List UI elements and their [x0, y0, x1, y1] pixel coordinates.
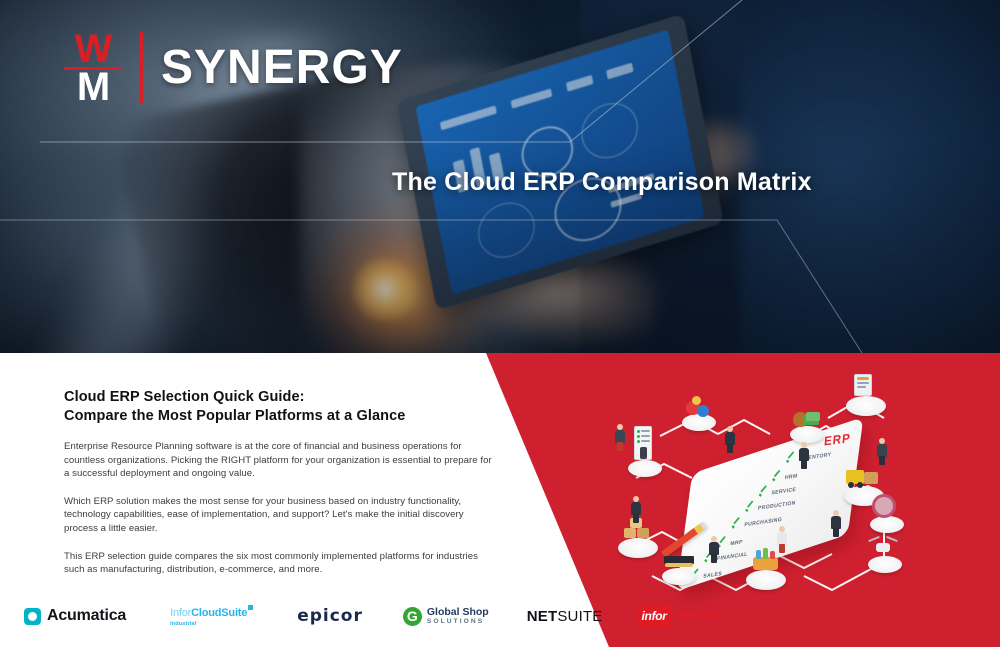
checklist-label: MRP	[730, 539, 743, 547]
check-icon	[771, 474, 781, 485]
vendor-name-part2: VISUAL	[678, 609, 723, 623]
checklist-label: HRM	[785, 473, 798, 481]
node-platform	[682, 414, 716, 431]
checklist-label: FINANCIAL	[717, 551, 748, 562]
check-icon	[730, 521, 740, 532]
section-heading: Cloud ERP Selection Quick Guide: Compare…	[64, 388, 494, 426]
node-platform	[846, 396, 886, 416]
vendor-name-part2: SUITE	[557, 608, 602, 625]
vendor-logo-acumatica[interactable]: Acumatica	[24, 607, 126, 625]
vendor-name-part1: NET	[527, 608, 558, 625]
logo-letter-m: M	[62, 70, 124, 104]
vendor-logo-netsuite[interactable]: NETSUITE	[527, 608, 603, 625]
check-icon	[785, 455, 795, 466]
vendor-name-part2: SOLUTIONS	[427, 618, 489, 626]
node-platform	[870, 516, 904, 533]
vendor-logo-row: Acumatica InforCloudSuite Industrial epi…	[0, 596, 620, 636]
check-icon	[757, 489, 767, 500]
person-with-pencil	[708, 536, 720, 562]
vendor-name-part2: CloudSuite	[191, 607, 247, 619]
node-platform	[628, 460, 662, 477]
vendor-logo-infor-cloudsuite[interactable]: InforCloudSuite Industrial	[170, 604, 253, 628]
logo-letter-w: W	[62, 32, 124, 66]
paragraph-2: Which ERP solution makes the most sense …	[64, 495, 494, 536]
node-platform	[868, 556, 902, 573]
vendor-name: Acumatica	[47, 607, 126, 625]
hero-title: The Cloud ERP Comparison Matrix	[392, 168, 812, 197]
paragraph-3: This ERP selection guide compares the si…	[64, 550, 494, 577]
check-icon	[744, 504, 754, 515]
node-platform	[746, 570, 786, 590]
checklist-label: SERVICE	[771, 486, 796, 496]
person-binoculars	[830, 510, 842, 536]
vendor-name-part1: infor	[642, 609, 667, 623]
erp-card-title: ERP	[824, 431, 852, 449]
person-woman-red	[776, 526, 788, 552]
node-platform	[618, 538, 658, 558]
vendor-name-part1: Global Shop	[427, 607, 489, 618]
person-ruler	[876, 438, 888, 464]
person-telescope	[614, 424, 626, 450]
infor-cloudsuite-logo-icon: InforCloudSuite Industrial	[170, 604, 253, 628]
person-pointing	[724, 426, 736, 452]
hero-banner: W M SYNERGY The Cloud ERP Comparison Mat…	[0, 0, 1000, 353]
company-logo[interactable]: W M SYNERGY	[62, 30, 403, 106]
node-platform	[790, 426, 824, 443]
vendor-name: epicor	[297, 606, 363, 626]
vendor-name-part1: Infor	[170, 607, 191, 619]
brand-wordmark: SYNERGY	[161, 44, 403, 92]
vendor-logo-global-shop[interactable]: Global Shop SOLUTIONS	[403, 607, 489, 626]
heading-line-1: Cloud ERP Selection Quick Guide:	[64, 389, 305, 405]
infor-visual-logo-icon: infor	[637, 605, 672, 628]
vendor-name-block: Global Shop SOLUTIONS	[427, 607, 489, 626]
vendor-subtitle: Industrial	[170, 622, 253, 628]
person-tablet	[798, 442, 810, 468]
wm-monogram-icon: W M	[62, 30, 124, 106]
global-shop-logo-icon	[403, 607, 422, 626]
infor-square-icon	[248, 605, 253, 610]
erp-isometric-illustration: ERP INVENTORY HRM SERVICE PRODUCTION	[600, 390, 920, 620]
node-platform	[662, 568, 696, 585]
heading-line-2: Compare the Most Popular Platforms at a …	[64, 408, 405, 424]
vendor-logo-infor-visual[interactable]: infor VISUAL	[637, 605, 723, 628]
body-copy: Cloud ERP Selection Quick Guide: Compare…	[64, 388, 494, 591]
person-briefcase	[630, 496, 642, 522]
acumatica-logo-icon	[24, 608, 41, 625]
checklist-label: PRODUCTION	[758, 500, 796, 512]
paragraph-1: Enterprise Resource Planning software is…	[64, 440, 494, 481]
logo-vertical-rule	[140, 32, 143, 104]
vendor-logo-epicor[interactable]: epicor	[297, 606, 363, 626]
page-root: W M SYNERGY The Cloud ERP Comparison Mat…	[0, 0, 1000, 647]
